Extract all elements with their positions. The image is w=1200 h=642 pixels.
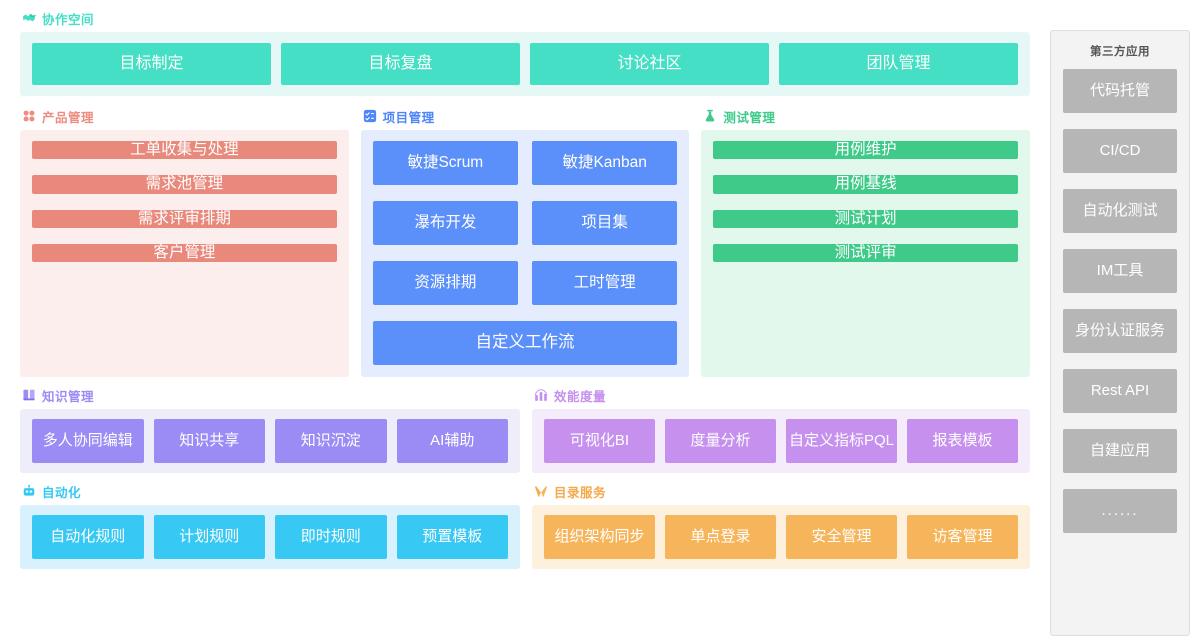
chip-ticket-collection[interactable]: 工单收集与处理 xyxy=(32,141,337,159)
chip-program[interactable]: 项目集 xyxy=(532,201,677,245)
sidebar-title: 第三方应用 xyxy=(1063,43,1177,59)
knowledge-metric-row: 知识管理 多人协同编辑 知识共享 知识沉淀 AI辅助 xyxy=(20,385,1030,473)
chip-visual-bi[interactable]: 可视化BI xyxy=(544,419,655,463)
book-icon xyxy=(22,388,36,402)
sidebar-item-automated-testing[interactable]: 自动化测试 xyxy=(1063,189,1177,233)
section-header-test: 测试管理 xyxy=(703,106,1030,126)
section-title: 目录服务 xyxy=(554,482,606,501)
flower-grid-icon xyxy=(22,109,36,123)
metric-panel: 可视化BI 度量分析 自定义指标PQL 报表模板 xyxy=(532,409,1030,473)
chip-test-plan[interactable]: 测试计划 xyxy=(713,210,1018,228)
section-header-metric: 效能度量 xyxy=(534,385,1030,405)
project-items: 敏捷Scrum 敏捷Kanban 瀑布开发 项目集 资源排期 工时管理 自定义工… xyxy=(373,141,678,365)
section-header-directory: 目录服务 xyxy=(534,481,1030,501)
handshake-icon xyxy=(22,11,36,25)
chip-waterfall-development[interactable]: 瀑布开发 xyxy=(373,201,518,245)
test-items: 用例维护 用例基线 测试计划 测试评审 xyxy=(713,141,1018,262)
chip-case-maintenance[interactable]: 用例维护 xyxy=(713,141,1018,159)
collaboration-items: 目标制定 目标复盘 讨论社区 团队管理 xyxy=(32,43,1018,85)
chip-org-structure-sync[interactable]: 组织架构同步 xyxy=(544,515,655,559)
chip-custom-metric-pql[interactable]: 自定义指标PQL xyxy=(786,419,897,463)
main-column: 协作空间 目标制定 目标复盘 讨论社区 团队管理 xyxy=(20,8,1030,636)
metric-items: 可视化BI 度量分析 自定义指标PQL 报表模板 xyxy=(544,419,1018,463)
section-test: 测试管理 用例维护 用例基线 测试计划 测试评审 xyxy=(701,106,1030,377)
section-collaboration: 协作空间 目标制定 目标复盘 讨论社区 团队管理 xyxy=(20,8,1030,106)
chip-knowledge-precipitation[interactable]: 知识沉淀 xyxy=(275,419,387,463)
section-header-automation: 自动化 xyxy=(22,481,520,501)
section-title: 产品管理 xyxy=(42,107,94,126)
section-title: 测试管理 xyxy=(723,107,775,126)
sidebar-item-self-built-app[interactable]: 自建应用 xyxy=(1063,429,1177,473)
automation-panel: 自动化规则 计划规则 即时规则 预置模板 xyxy=(20,505,520,569)
chip-team-management[interactable]: 团队管理 xyxy=(779,43,1018,85)
chip-case-baseline[interactable]: 用例基线 xyxy=(713,175,1018,193)
sidebar-item-identity-auth-service[interactable]: 身份认证服务 xyxy=(1063,309,1177,353)
collaboration-panel: 目标制定 目标复盘 讨论社区 团队管理 xyxy=(20,32,1030,96)
sidebar-item-im-tools[interactable]: IM工具 xyxy=(1063,249,1177,293)
project-panel: 敏捷Scrum 敏捷Kanban 瀑布开发 项目集 资源排期 工时管理 自定义工… xyxy=(361,130,690,377)
wrench-icon xyxy=(534,484,548,498)
checklist-square-icon xyxy=(363,109,377,123)
chip-timesheet-management[interactable]: 工时管理 xyxy=(532,261,677,305)
section-metric: 效能度量 可视化BI 度量分析 自定义指标PQL 报表模板 xyxy=(532,385,1030,473)
sidebar-item-cicd[interactable]: CI/CD xyxy=(1063,129,1177,173)
section-project: 项目管理 敏捷Scrum 敏捷Kanban 瀑布开发 项目集 资源排期 工时管理… xyxy=(361,106,690,377)
directory-panel: 组织架构同步 单点登录 安全管理 访客管理 xyxy=(532,505,1030,569)
sidebar-item-rest-api[interactable]: Rest API xyxy=(1063,369,1177,413)
chip-instant-rules[interactable]: 即时规则 xyxy=(275,515,387,559)
chip-requirement-review[interactable]: 需求评审排期 xyxy=(32,210,337,228)
section-automation: 自动化 自动化规则 计划规则 即时规则 预置模板 xyxy=(20,481,520,569)
chip-test-review[interactable]: 测试评审 xyxy=(713,244,1018,262)
chip-security-management[interactable]: 安全管理 xyxy=(786,515,897,559)
chip-ai-assist[interactable]: AI辅助 xyxy=(397,419,509,463)
chip-report-template[interactable]: 报表模板 xyxy=(907,419,1018,463)
sidebar-item-code-hosting[interactable]: 代码托管 xyxy=(1063,69,1177,113)
flask-icon xyxy=(703,109,717,123)
chip-scheduled-rules[interactable]: 计划规则 xyxy=(154,515,266,559)
directory-items: 组织架构同步 单点登录 安全管理 访客管理 xyxy=(544,515,1018,559)
chip-guest-management[interactable]: 访客管理 xyxy=(907,515,1018,559)
sidebar-item-more[interactable]: ...... xyxy=(1063,489,1177,533)
capability-map: 协作空间 目标制定 目标复盘 讨论社区 团队管理 xyxy=(0,0,1200,642)
capability-columns: 产品管理 工单收集与处理 需求池管理 需求评审排期 客户管理 xyxy=(20,106,1030,377)
section-title: 效能度量 xyxy=(554,386,606,405)
chip-preset-templates[interactable]: 预置模板 xyxy=(397,515,509,559)
bar-chart-icon xyxy=(534,388,548,402)
robot-icon xyxy=(22,484,36,498)
section-header-knowledge: 知识管理 xyxy=(22,385,520,405)
third-party-apps-sidebar: 第三方应用 代码托管 CI/CD 自动化测试 IM工具 身份认证服务 Rest … xyxy=(1050,30,1190,636)
chip-customer-management[interactable]: 客户管理 xyxy=(32,244,337,262)
section-title: 自动化 xyxy=(42,482,81,501)
section-header-project: 项目管理 xyxy=(363,106,690,126)
test-panel: 用例维护 用例基线 测试计划 测试评审 xyxy=(701,130,1030,377)
chip-resource-scheduling[interactable]: 资源排期 xyxy=(373,261,518,305)
section-directory: 目录服务 组织架构同步 单点登录 安全管理 访客管理 xyxy=(532,481,1030,569)
knowledge-items: 多人协同编辑 知识共享 知识沉淀 AI辅助 xyxy=(32,419,508,463)
chip-custom-workflow[interactable]: 自定义工作流 xyxy=(373,321,678,365)
automation-directory-row: 自动化 自动化规则 计划规则 即时规则 预置模板 xyxy=(20,481,1030,569)
automation-items: 自动化规则 计划规则 即时规则 预置模板 xyxy=(32,515,508,559)
chip-goal-review[interactable]: 目标复盘 xyxy=(281,43,520,85)
chip-collaborative-editing[interactable]: 多人协同编辑 xyxy=(32,419,144,463)
section-knowledge: 知识管理 多人协同编辑 知识共享 知识沉淀 AI辅助 xyxy=(20,385,520,473)
chip-goal-setting[interactable]: 目标制定 xyxy=(32,43,271,85)
chip-agile-kanban[interactable]: 敏捷Kanban xyxy=(532,141,677,185)
section-product: 产品管理 工单收集与处理 需求池管理 需求评审排期 客户管理 xyxy=(20,106,349,377)
section-header-collaboration: 协作空间 xyxy=(22,8,1030,28)
chip-knowledge-sharing[interactable]: 知识共享 xyxy=(154,419,266,463)
section-title: 知识管理 xyxy=(42,386,94,405)
chip-agile-scrum[interactable]: 敏捷Scrum xyxy=(373,141,518,185)
section-title: 协作空间 xyxy=(42,9,94,28)
section-header-product: 产品管理 xyxy=(22,106,349,126)
knowledge-panel: 多人协同编辑 知识共享 知识沉淀 AI辅助 xyxy=(20,409,520,473)
section-title: 项目管理 xyxy=(383,107,435,126)
chip-single-sign-on[interactable]: 单点登录 xyxy=(665,515,776,559)
product-items: 工单收集与处理 需求池管理 需求评审排期 客户管理 xyxy=(32,141,337,262)
product-panel: 工单收集与处理 需求池管理 需求评审排期 客户管理 xyxy=(20,130,349,377)
chip-automation-rules[interactable]: 自动化规则 xyxy=(32,515,144,559)
chip-metric-analysis[interactable]: 度量分析 xyxy=(665,419,776,463)
chip-requirement-pool[interactable]: 需求池管理 xyxy=(32,175,337,193)
chip-discussion-community[interactable]: 讨论社区 xyxy=(530,43,769,85)
